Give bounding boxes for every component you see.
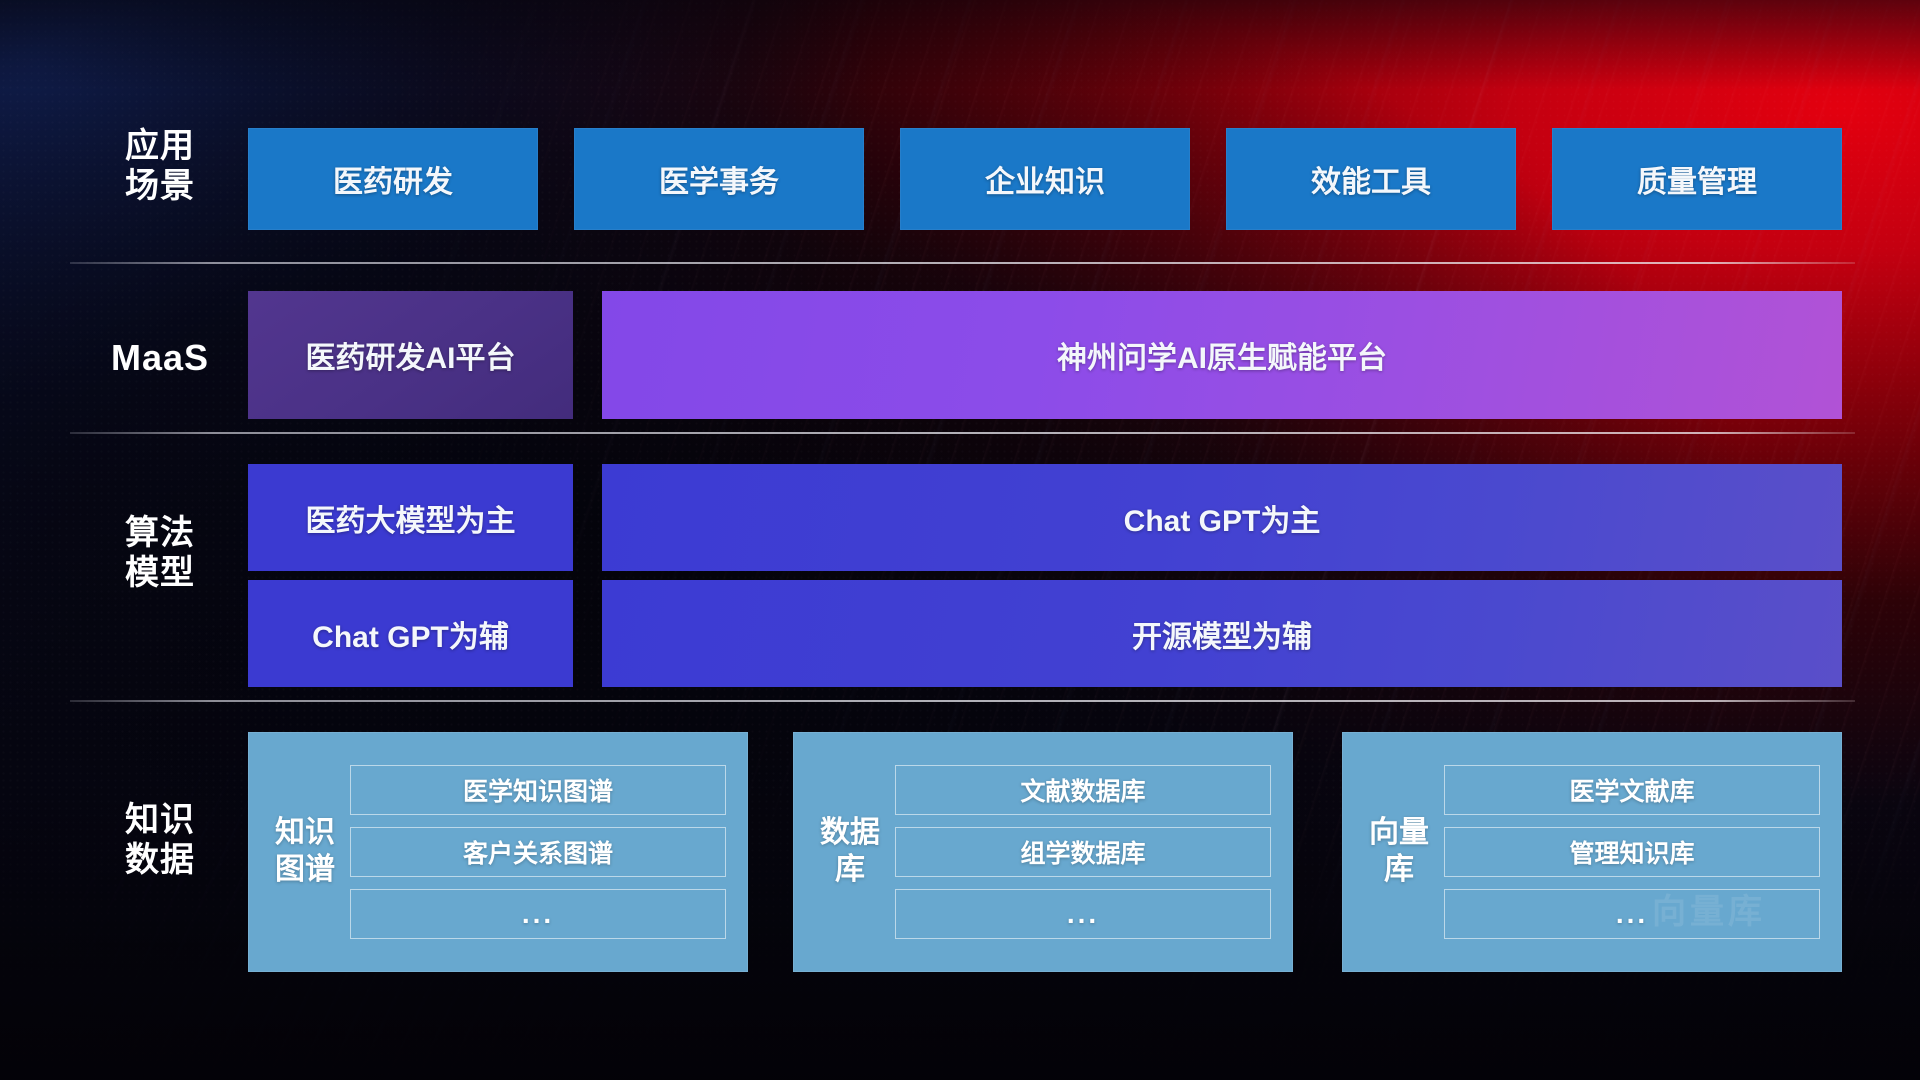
model-box-right-1[interactable]: 开源模型为辅 [602, 580, 1842, 687]
knowledge-panel-1-items: 文献数据库 组学数据库 ... [881, 749, 1293, 955]
row-label-application: 应用 场景 [90, 126, 230, 206]
model-box-right-0[interactable]: Chat GPT为主 [602, 464, 1842, 571]
model-box-right-1-label: 开源模型为辅 [1132, 612, 1312, 656]
divider-maas-model [70, 432, 1855, 434]
knowledge-panel-knowledge-graph[interactable]: 知识图谱 医学知识图谱 客户关系图谱 ... [248, 732, 748, 972]
knowledge-item-1-1-label: 组学数据库 [1020, 834, 1145, 870]
knowledge-panel-0-title: 知识图谱 [274, 815, 336, 888]
app-box-2[interactable]: 企业知识 [900, 128, 1190, 230]
divider-application-maas [70, 262, 1855, 264]
knowledge-item-0-0[interactable]: 医学知识图谱 [350, 765, 726, 815]
knowledge-panel-2-items: 医学文献库 管理知识库 ... [1430, 749, 1842, 955]
app-box-2-label: 企业知识 [985, 157, 1105, 201]
model-box-left-1-label: Chat GPT为辅 [312, 612, 509, 656]
knowledge-item-0-2[interactable]: ... [350, 889, 726, 939]
app-box-1[interactable]: 医学事务 [574, 128, 864, 230]
knowledge-item-2-1[interactable]: 管理知识库 [1444, 827, 1820, 877]
knowledge-item-2-1-label: 管理知识库 [1569, 834, 1694, 870]
knowledge-item-2-0[interactable]: 医学文献库 [1444, 765, 1820, 815]
knowledge-item-0-1-label: 客户关系图谱 [463, 834, 613, 870]
knowledge-item-2-0-label: 医学文献库 [1569, 772, 1694, 808]
app-box-3-label: 效能工具 [1311, 157, 1431, 201]
row-label-knowledge: 知识 数据 [90, 800, 230, 880]
knowledge-item-2-2[interactable]: ... [1444, 889, 1820, 939]
app-box-4-label: 质量管理 [1637, 157, 1757, 201]
knowledge-panel-2-title: 向量库 [1368, 815, 1430, 888]
knowledge-panel-1-title: 数据库 [819, 815, 881, 888]
knowledge-item-1-0[interactable]: 文献数据库 [895, 765, 1271, 815]
knowledge-item-2-2-label: ... [1616, 898, 1648, 930]
knowledge-item-1-1[interactable]: 组学数据库 [895, 827, 1271, 877]
app-box-4[interactable]: 质量管理 [1552, 128, 1842, 230]
model-box-left-0-label: 医药大模型为主 [306, 496, 516, 540]
knowledge-panel-0-items: 医学知识图谱 客户关系图谱 ... [336, 749, 748, 955]
app-box-1-label: 医学事务 [659, 157, 779, 201]
app-box-3[interactable]: 效能工具 [1226, 128, 1516, 230]
model-box-right-0-label: Chat GPT为主 [1124, 496, 1321, 540]
knowledge-item-0-0-label: 医学知识图谱 [463, 772, 613, 808]
background-top-fade [0, 0, 1920, 90]
knowledge-item-1-2[interactable]: ... [895, 889, 1271, 939]
maas-box-left[interactable]: 医药研发AI平台 [248, 291, 573, 419]
knowledge-panel-database[interactable]: 数据库 文献数据库 组学数据库 ... [793, 732, 1293, 972]
architecture-diagram-slide: 应用 场景 医药研发 医学事务 企业知识 效能工具 质量管理 MaaS 医药研发… [0, 0, 1920, 1080]
row-label-model: 算法 模型 [90, 513, 230, 593]
divider-model-knowledge [70, 700, 1855, 702]
maas-box-left-label: 医药研发AI平台 [306, 333, 516, 377]
knowledge-item-0-1[interactable]: 客户关系图谱 [350, 827, 726, 877]
maas-box-right-label: 神州问学AI原生赋能平台 [1057, 333, 1387, 377]
knowledge-panel-vector-store[interactable]: 向量库 医学文献库 管理知识库 ... 向量库 [1342, 732, 1842, 972]
knowledge-item-1-0-label: 文献数据库 [1020, 772, 1145, 808]
app-box-0-label: 医药研发 [333, 157, 453, 201]
model-box-left-1[interactable]: Chat GPT为辅 [248, 580, 573, 687]
maas-box-right[interactable]: 神州问学AI原生赋能平台 [602, 291, 1842, 419]
model-box-left-0[interactable]: 医药大模型为主 [248, 464, 573, 571]
row-label-maas: MaaS [90, 337, 230, 379]
app-box-0[interactable]: 医药研发 [248, 128, 538, 230]
knowledge-item-1-2-label: ... [1067, 898, 1099, 930]
knowledge-item-0-2-label: ... [522, 898, 554, 930]
